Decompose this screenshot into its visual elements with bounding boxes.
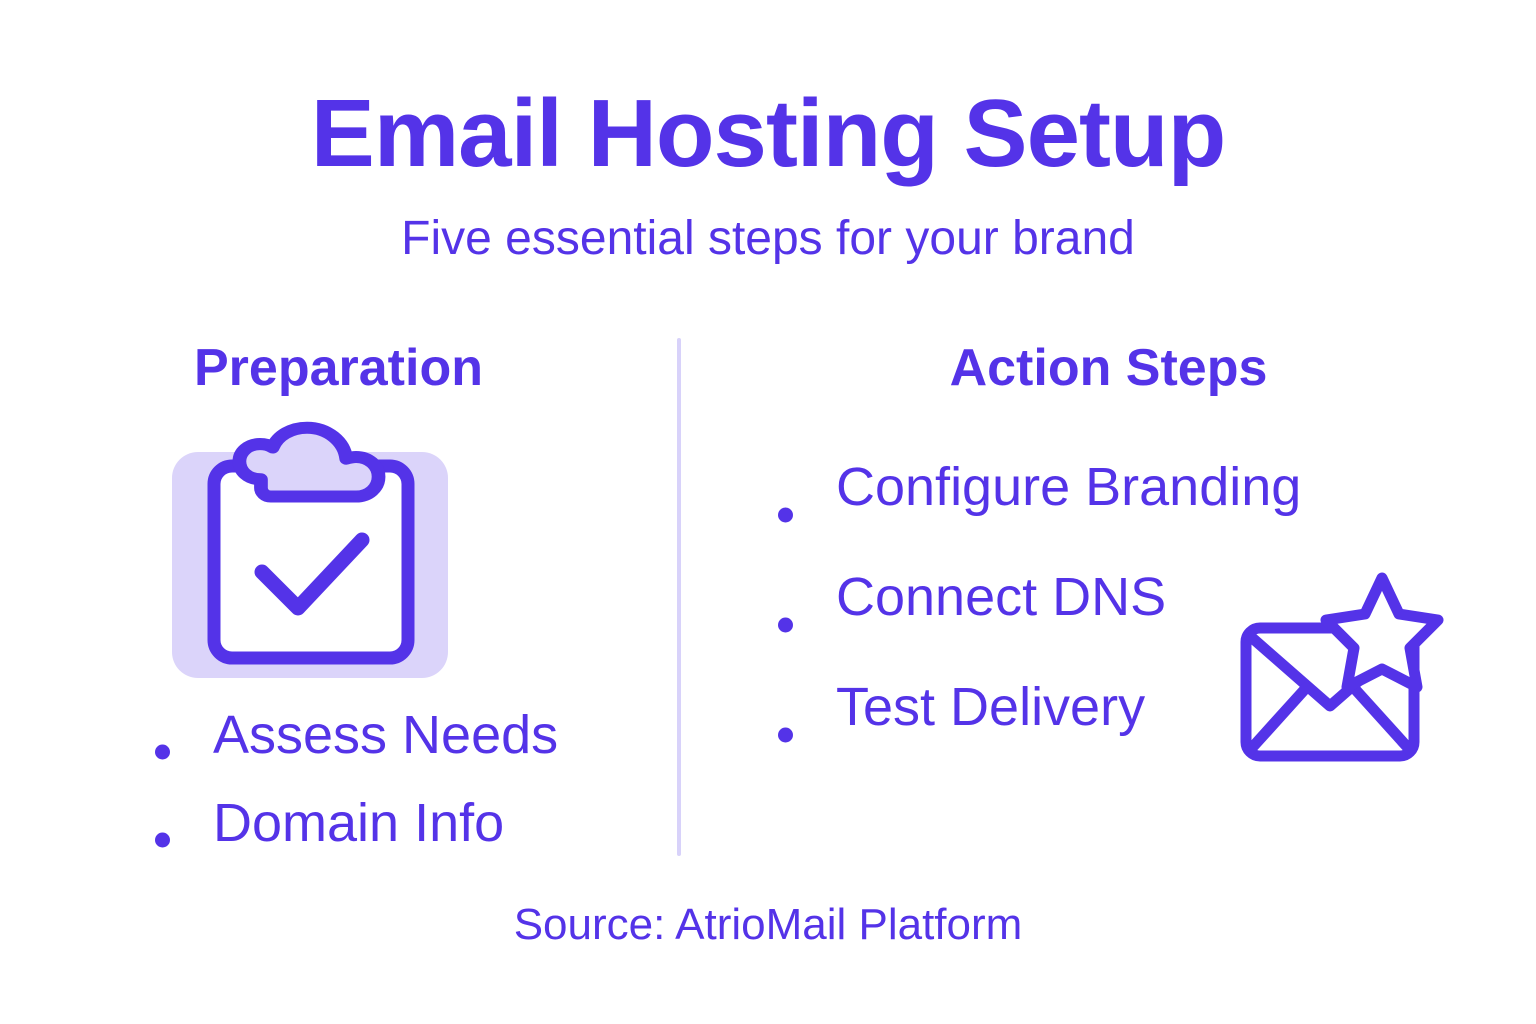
- list-item: Test Delivery: [778, 680, 1301, 790]
- clipboard-check-icon: [196, 420, 426, 670]
- page-title: Email Hosting Setup: [0, 84, 1536, 185]
- list-item-label: Assess Needs: [155, 708, 558, 762]
- list-item-label: Test Delivery: [778, 680, 1145, 734]
- list-item-label: Domain Info: [155, 796, 504, 850]
- bullet-dot-icon: [778, 508, 793, 523]
- action-steps-list: Configure Branding Connect DNS Test Deli…: [778, 460, 1301, 790]
- list-item: Domain Info: [155, 796, 558, 884]
- preparation-list: Assess Needs Domain Info: [155, 708, 558, 884]
- list-item-label: Connect DNS: [778, 570, 1166, 624]
- bullet-dot-icon: [155, 833, 170, 848]
- list-item-label: Configure Branding: [778, 460, 1301, 514]
- list-item: Assess Needs: [155, 708, 558, 796]
- bullet-dot-icon: [778, 618, 793, 633]
- infographic-canvas: Email Hosting Setup Five essential steps…: [0, 0, 1536, 1024]
- column-heading-action-steps: Action Steps: [681, 340, 1536, 397]
- list-item: Configure Branding: [778, 460, 1301, 570]
- list-item: Connect DNS: [778, 570, 1301, 680]
- bullet-dot-icon: [778, 728, 793, 743]
- envelope-star-icon: [1234, 570, 1450, 770]
- column-divider: [677, 338, 681, 856]
- column-heading-preparation: Preparation: [0, 340, 677, 397]
- page-subtitle: Five essential steps for your brand: [0, 213, 1536, 266]
- source-caption: Source: AtrioMail Platform: [0, 900, 1536, 950]
- bullet-dot-icon: [155, 745, 170, 760]
